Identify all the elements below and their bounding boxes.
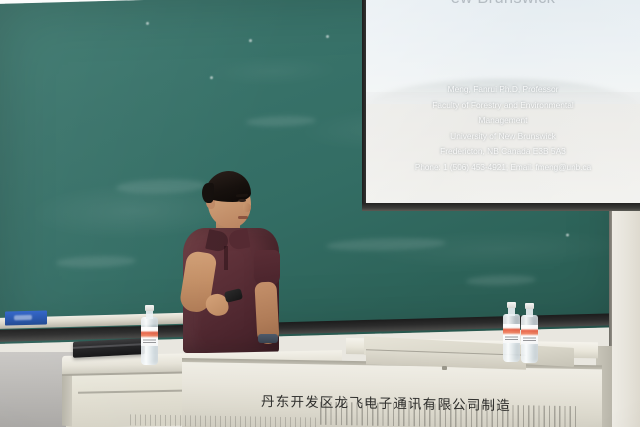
podium-drawer-knob[interactable] <box>442 366 447 370</box>
bottle-cap <box>525 303 534 309</box>
slide-line-2: Faculty of Forestry and Environmental <box>370 98 636 114</box>
slide-line-1: Meng, Fanrui Ph.D, Professor <box>370 82 636 98</box>
classroom-presentation-scene: ew Brunswick Meng, Fanrui Ph.D, Professo… <box>0 0 640 427</box>
presenter-sleeve-right <box>254 250 280 286</box>
bottle-cap <box>507 302 516 308</box>
slide-body: Meng, Fanrui Ph.D, Professor Faculty of … <box>366 82 640 176</box>
slide-line-4: University of New Brunswick <box>370 129 636 145</box>
bottle-neck <box>146 310 153 319</box>
chalk-mark <box>566 233 569 236</box>
chalk-smudge <box>326 237 446 252</box>
bottle-label <box>141 327 158 346</box>
presenter-nose <box>243 203 251 212</box>
bottle-neck <box>508 307 515 316</box>
slide-line-3: Management <box>370 113 636 129</box>
chalk-mark <box>146 22 149 25</box>
slide-title: ew Brunswick <box>366 0 640 8</box>
bottle-neck <box>526 308 533 317</box>
chalk-smudge <box>56 255 136 268</box>
eraser-icon[interactable] <box>5 310 47 325</box>
bottle-cap <box>145 305 154 311</box>
chalk-smudge <box>466 274 536 286</box>
chalk-smudge <box>246 115 316 127</box>
screen-bottom-border <box>362 203 640 211</box>
chalk-mark <box>326 35 329 38</box>
presenter-mouth <box>238 216 248 219</box>
bottle-label <box>503 324 520 343</box>
projection-screen: ew Brunswick Meng, Fanrui Ph.D, Professo… <box>366 0 640 206</box>
presenter-shirt-placket <box>224 246 228 270</box>
bottle-label <box>521 325 538 344</box>
slide-line-6: Phone: 1 (506) 453-4921; Email: fmeng@un… <box>370 160 636 176</box>
slide-line-5: Fredericton, NB Canada E3B 5A3 <box>370 144 636 160</box>
chalk-mark <box>210 76 213 79</box>
chalk-smudge <box>116 178 206 194</box>
podium-speaker-grille-lower <box>130 414 320 427</box>
chalk-mark <box>249 39 252 42</box>
wristwatch-icon <box>258 334 278 343</box>
